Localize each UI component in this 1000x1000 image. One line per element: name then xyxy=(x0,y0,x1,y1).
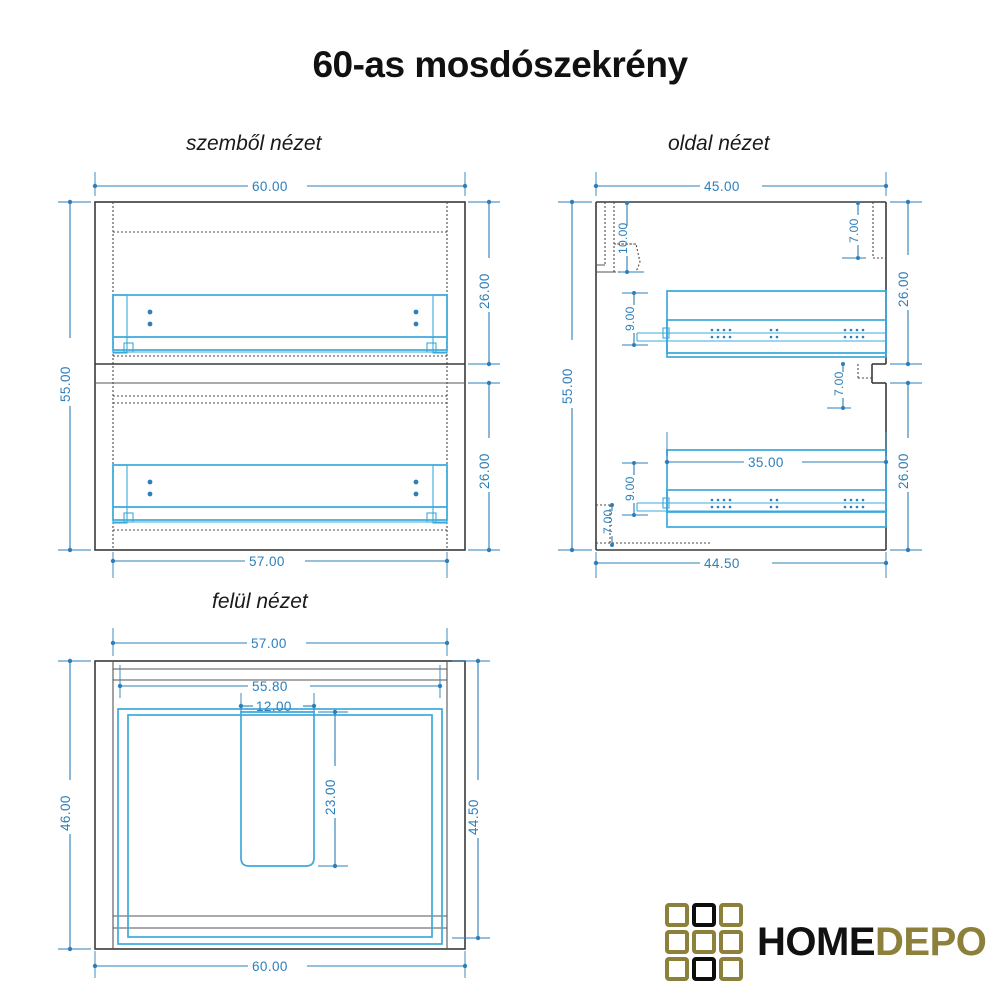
top-sink-cutout xyxy=(241,712,314,866)
front-dim-upper-26: 26.00 xyxy=(468,200,500,366)
side-dim35-dot-left xyxy=(665,460,669,464)
side-dimU26-text: 26.00 xyxy=(896,271,911,307)
front-lower-drawer-right-side xyxy=(433,465,447,523)
logo-square-6 xyxy=(719,930,743,954)
top-dim4450-dot-bottom xyxy=(476,936,480,940)
front-cabinet-outline xyxy=(95,202,465,550)
top-dim4450-text: 44.50 xyxy=(466,799,481,835)
front-upper-drawer xyxy=(113,295,447,353)
side-dim7m-dot-bottom xyxy=(841,406,845,410)
front-lower-hole-a xyxy=(148,480,153,485)
side-dimL26-dot-top xyxy=(906,381,910,385)
top-counter-inner xyxy=(128,715,432,937)
side-dimU26-dot-top xyxy=(906,200,910,204)
top-dim57-text: 57.00 xyxy=(251,636,287,651)
side-dim-notch-top: 10.00 xyxy=(616,201,644,274)
side-view-group: 45.00 44.50 55.00 xyxy=(558,172,922,578)
logo-square-9 xyxy=(719,957,743,981)
side-dim-slide-length: 35.00 xyxy=(665,432,888,470)
top-dim5580-dot-left xyxy=(118,684,122,688)
side-right-mid-notch xyxy=(858,364,872,378)
front-dimU26-text: 26.00 xyxy=(477,273,492,309)
side-dim9l-dot-bottom xyxy=(632,513,636,517)
front-lower-drawer-front xyxy=(113,465,447,520)
top-dim-cutout-depth: 23.00 xyxy=(318,710,348,868)
top-dim-cutout-width: 12.00 xyxy=(239,693,316,714)
side-dim9u-text: 9.00 xyxy=(623,306,637,331)
side-dim7u-dot-bottom xyxy=(856,256,860,260)
top-dim57-dot-left xyxy=(111,641,115,645)
side-dim4450-text: 44.50 xyxy=(704,556,740,571)
front-dim-width-outer: 60.00 xyxy=(93,172,467,196)
side-dimU26-dot-bottom xyxy=(906,362,910,366)
side-dim-lower-26: 26.00 xyxy=(890,381,922,552)
top-dim23-dot-top xyxy=(333,710,337,714)
side-dim10-dot-top xyxy=(625,201,629,205)
side-dim7u-text: 7.00 xyxy=(847,218,861,243)
top-dim-width-inner: 57.00 xyxy=(111,628,449,656)
side-dim-depth-bottom: 44.50 xyxy=(594,552,888,578)
front-view-group: 60.00 57.00 55.00 xyxy=(58,172,500,578)
front-lower-hole-d xyxy=(414,492,419,497)
side-dim9u-dot-bottom xyxy=(632,343,636,347)
top-dim-counter-width: 55.80 xyxy=(118,665,442,698)
top-dim46-text: 46.00 xyxy=(58,795,73,831)
front-dim60-dot-right xyxy=(463,184,467,188)
front-upper-hole-d xyxy=(414,322,419,327)
top-dim46-dot-bottom xyxy=(68,947,72,951)
side-dim-7-bottom: 7.00 xyxy=(601,503,615,547)
front-dimL26-dot-bottom xyxy=(487,548,491,552)
top-view-group: 57.00 55.80 12.00 xyxy=(58,628,490,978)
logo-square-5 xyxy=(692,930,716,954)
front-dim57-text: 57.00 xyxy=(249,554,285,569)
front-dim55-dot-bottom xyxy=(68,548,72,552)
side-dim35-text: 35.00 xyxy=(748,455,784,470)
drawing-page: 60-as mosdószekrény szemből nézet oldal … xyxy=(0,0,1000,1000)
side-upper-slide-body xyxy=(667,320,886,357)
side-dim-depth-top: 45.00 xyxy=(594,172,888,196)
side-dim9l-dot-top xyxy=(632,461,636,465)
side-dim45-text: 45.00 xyxy=(704,179,740,194)
front-lower-hole-b xyxy=(148,492,153,497)
top-dim5580-text: 55.80 xyxy=(252,679,288,694)
front-dim60-dot-left xyxy=(93,184,97,188)
top-dim60-dot-right xyxy=(463,964,467,968)
front-dimU26-dot-top xyxy=(487,200,491,204)
side-dim7b-text: 7.00 xyxy=(601,509,615,534)
side-dim10-dot-bottom xyxy=(625,270,629,274)
top-counter-outer xyxy=(118,709,442,944)
top-dim60-dot-left xyxy=(93,964,97,968)
front-lower-drawer-left-side xyxy=(113,465,127,523)
front-dim-width-inner: 57.00 xyxy=(111,552,449,578)
side-dim55-text: 55.00 xyxy=(560,368,575,404)
side-dim4450-dot-right xyxy=(884,561,888,565)
top-dim12-dot-left xyxy=(239,704,243,708)
side-dim-7-middle: 7.00 xyxy=(827,362,851,410)
logo-square-7 xyxy=(665,957,689,981)
side-dim9l-text: 9.00 xyxy=(623,476,637,501)
side-upper-drawer xyxy=(637,291,886,357)
top-dim23-text: 23.00 xyxy=(323,779,338,815)
logo-square-8 xyxy=(692,957,716,981)
side-dim-height-total: 55.00 xyxy=(558,200,592,552)
side-dim55-dot-top xyxy=(570,200,574,204)
side-dim55-dot-bottom xyxy=(570,548,574,552)
top-dim12-text: 12.00 xyxy=(256,699,292,714)
side-dimL26-dot-bottom xyxy=(906,548,910,552)
technical-drawing-canvas: .dk{stroke:#3a3a3a;fill:none;stroke-widt… xyxy=(0,0,1000,1000)
top-dim-depth-right: 44.50 xyxy=(452,659,490,940)
top-dim46-dot-top xyxy=(68,659,72,663)
side-dim45-dot-right xyxy=(884,184,888,188)
logo-square-3 xyxy=(719,903,743,927)
side-dim10-text: 10.00 xyxy=(616,222,630,254)
side-dim45-dot-left xyxy=(594,184,598,188)
front-dim57-dot-right xyxy=(445,559,449,563)
side-dim7u-dot-top xyxy=(856,201,860,205)
side-dim-9-lower: 9.00 xyxy=(622,461,648,517)
side-dim7b-dot-top xyxy=(610,503,614,507)
side-right-upper-notch xyxy=(873,202,886,258)
side-dim7m-text: 7.00 xyxy=(832,371,846,396)
top-dim-depth-left: 46.00 xyxy=(58,659,91,951)
side-upper-drawer-box xyxy=(667,291,886,353)
front-dim-height-total: 55.00 xyxy=(58,200,91,552)
front-dim57-dot-left xyxy=(111,559,115,563)
logo-grid-icon xyxy=(665,903,743,981)
front-upper-hole-a xyxy=(148,310,153,315)
top-dim5580-dot-right xyxy=(438,684,442,688)
logo-square-2 xyxy=(692,903,716,927)
front-dimU26-dot-bottom xyxy=(487,362,491,366)
side-dim9u-dot-top xyxy=(632,291,636,295)
side-dim-7-upper: 7.00 xyxy=(842,201,866,260)
side-dim4450-dot-left xyxy=(594,561,598,565)
side-dim-9-upper: 9.00 xyxy=(622,291,648,347)
top-dim4450-dot-top xyxy=(476,659,480,663)
homedepo-logo[interactable]: HOMEDEPO xyxy=(665,903,986,981)
logo-square-4 xyxy=(665,930,689,954)
logo-text-home: HOME xyxy=(757,920,875,964)
front-upper-drawer-right-side xyxy=(433,295,447,353)
front-dim55-text: 55.00 xyxy=(58,366,73,402)
front-lower-drawer xyxy=(113,465,447,523)
side-dim35-dot-right xyxy=(884,460,888,464)
logo-square-1 xyxy=(665,903,689,927)
side-dimL26-text: 26.00 xyxy=(896,453,911,489)
front-lower-hole-c xyxy=(414,480,419,485)
front-upper-hole-b xyxy=(148,322,153,327)
side-dim7m-dot-top xyxy=(841,362,845,366)
front-dim55-dot-top xyxy=(68,200,72,204)
side-lower-slide-body xyxy=(667,490,886,527)
front-upper-drawer-front xyxy=(113,295,447,350)
top-dim-width-outer: 60.00 xyxy=(93,951,467,978)
top-dim23-dot-bottom xyxy=(333,864,337,868)
top-dim12-dot-right xyxy=(312,704,316,708)
front-dimL26-dot-top xyxy=(487,381,491,385)
logo-wordmark: HOMEDEPO xyxy=(757,922,986,962)
logo-text-depo: DEPO xyxy=(875,920,986,964)
side-dim-upper-26: 26.00 xyxy=(890,200,922,366)
front-upper-hole-c xyxy=(414,310,419,315)
front-dim60-text: 60.00 xyxy=(252,179,288,194)
front-upper-drawer-left-side xyxy=(113,295,127,353)
side-notch-edge xyxy=(596,265,614,272)
top-dim57-dot-right xyxy=(445,641,449,645)
front-dim-lower-26: 26.00 xyxy=(468,381,500,552)
side-dim7b-dot-bottom xyxy=(610,543,614,547)
top-dim60-text: 60.00 xyxy=(252,959,288,974)
front-dimL26-text: 26.00 xyxy=(477,453,492,489)
